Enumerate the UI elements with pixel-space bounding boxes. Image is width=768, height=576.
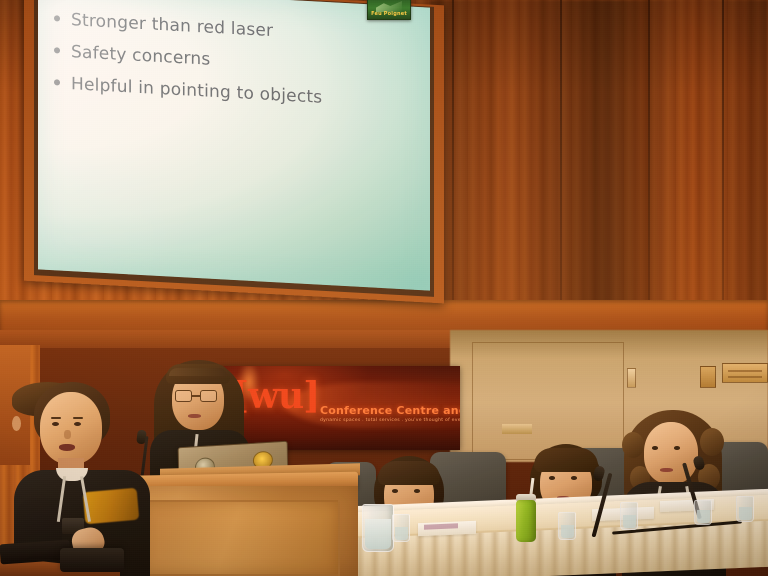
shirt-graphic: [83, 488, 140, 525]
slide-bullet-text: Helpful in pointing to objects: [71, 74, 322, 108]
eyeglasses-icon: [175, 390, 221, 402]
eye-left: [52, 422, 59, 426]
slide-bullet-item: Helpful in pointing to objects: [54, 73, 420, 113]
eye-right: [414, 489, 420, 493]
water-glass: [392, 514, 410, 542]
light-switch[interactable]: [627, 368, 636, 388]
eyebrow-right: [73, 417, 83, 419]
bullet-dot-icon: [54, 47, 60, 53]
venue-banner-title: Conference Centre and Services: [320, 404, 460, 417]
slide-bullet-item: Stronger than red laser: [54, 9, 420, 49]
pitcher-water-level: [365, 519, 391, 549]
wood-seam: [722, 0, 724, 312]
slide-bullet-text: Stronger than red laser: [71, 10, 273, 41]
hair-curl: [622, 432, 644, 458]
venue-banner-tagline: dynamic spaces . total services . you've…: [320, 418, 460, 423]
face: [40, 392, 102, 464]
wall-plaque-large: [722, 363, 768, 383]
mouth: [660, 468, 673, 472]
eye-right: [674, 446, 680, 450]
green-drink-bottle: [516, 500, 536, 542]
ear: [12, 416, 21, 431]
acoustic-panel-tab: [502, 424, 532, 434]
fire-exit-sign: Feu Poignet: [367, 0, 411, 20]
water-glass: [558, 512, 576, 540]
wall-plaque-small: [700, 366, 716, 388]
wood-wall-shadow-band: [430, 0, 768, 310]
wood-seam: [648, 0, 650, 312]
water-pitcher: [362, 504, 394, 552]
bullet-dot-icon: [54, 15, 60, 21]
podium-front-panel: [140, 500, 340, 576]
mouth-open-speaking: [59, 444, 75, 451]
exit-sign-label: Feu Poignet: [368, 11, 410, 17]
mouth: [188, 414, 201, 418]
water-glass: [620, 502, 638, 530]
eye-right: [571, 476, 577, 480]
foreground-av-device: [60, 548, 124, 572]
eyebrow-left: [51, 417, 61, 419]
water-glass: [694, 500, 712, 525]
eye-left: [549, 476, 555, 480]
eye-left: [392, 489, 398, 493]
water-glass: [736, 496, 754, 522]
photo-scene: Stronger than red laser Safety concerns …: [0, 0, 768, 576]
projection-screen: Stronger than red laser Safety concerns …: [38, 0, 430, 291]
headband: [169, 368, 227, 376]
hair-fringe: [378, 461, 440, 485]
eyeglass-lens-right: [200, 390, 217, 402]
eyeglass-lens-left: [175, 390, 192, 402]
wood-seam: [560, 0, 562, 312]
slide-bullet-item: Safety concerns: [54, 41, 420, 81]
hair-fringe: [534, 448, 598, 472]
nose: [64, 430, 71, 439]
hair-curl: [700, 428, 724, 456]
face: [644, 422, 698, 484]
acoustic-panel-frame: [472, 342, 624, 460]
eyeglass-bridge: [192, 395, 200, 397]
wood-seam: [452, 0, 454, 312]
venue-banner: [wu] Conference Centre and Services dyna…: [216, 366, 460, 450]
eye-right: [74, 422, 81, 426]
bullet-dot-icon: [54, 79, 60, 85]
slide-content: Stronger than red laser Safety concerns …: [54, 9, 420, 125]
eye-left: [652, 446, 658, 450]
slide-bullet-text: Safety concerns: [71, 42, 210, 70]
